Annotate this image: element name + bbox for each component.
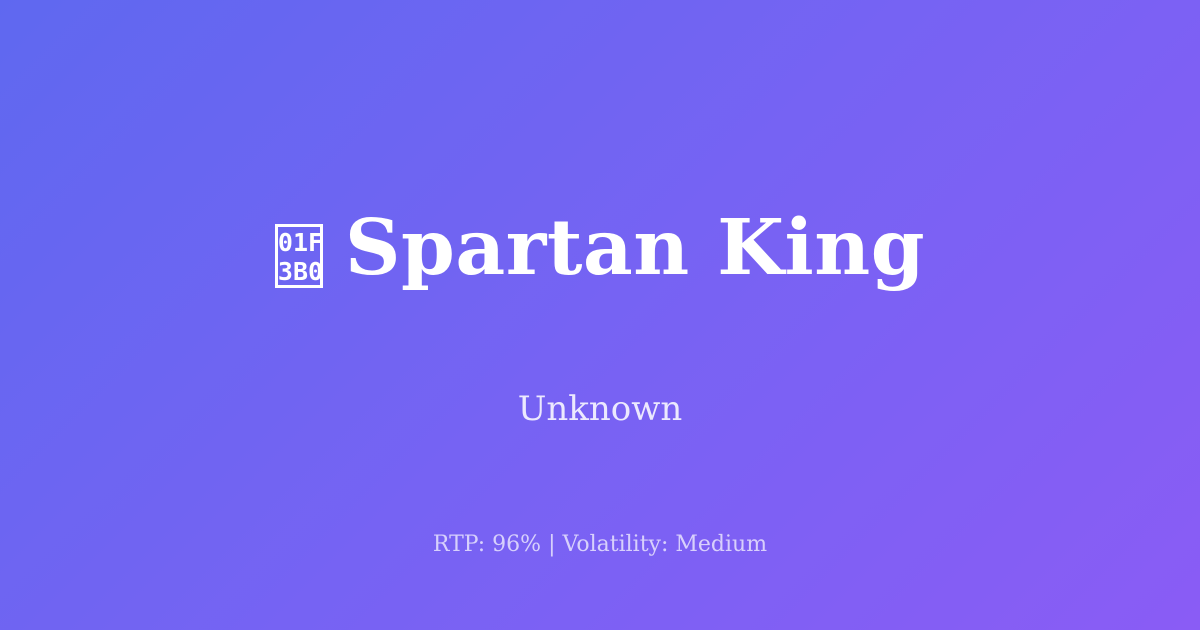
slot-machine-icon: 01F 3B0 xyxy=(275,208,323,284)
missing-glyph-box: 01F 3B0 xyxy=(275,224,323,288)
codepoint-low: 3B0 xyxy=(278,257,320,286)
title-row: 01F 3B0 Spartan King xyxy=(275,156,925,341)
game-provider-subtitle: Unknown xyxy=(518,389,683,430)
game-preview-card: 01F 3B0 Spartan King Unknown RTP: 96% | … xyxy=(0,0,1200,630)
page-title: Spartan King xyxy=(345,208,925,290)
game-stats-footer: RTP: 96% | Volatility: Medium xyxy=(0,531,1200,560)
card-center-stack: 01F 3B0 Spartan King Unknown xyxy=(0,156,1200,430)
codepoint-high: 01F xyxy=(278,228,320,257)
